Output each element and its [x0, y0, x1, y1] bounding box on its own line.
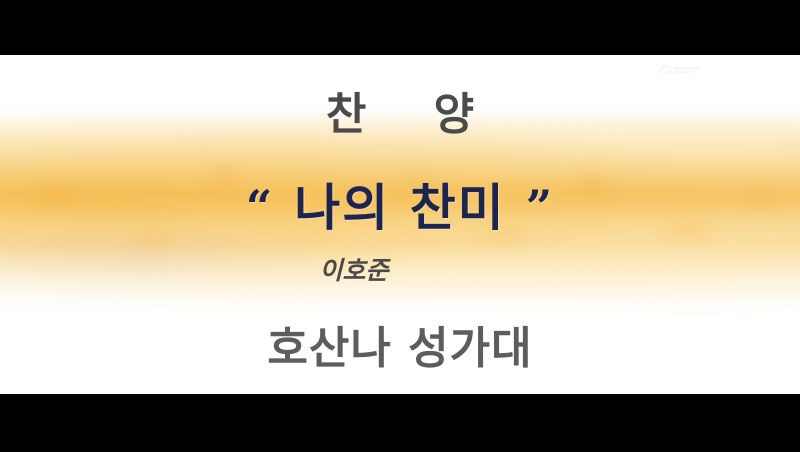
composer-name: 이호준: [0, 258, 800, 283]
title-slide: 찬 양 “나의 찬미” 이호준 호산나 성가대: [0, 55, 800, 394]
hymn-title: “나의 찬미”: [0, 183, 800, 233]
video-frame: 찬 양 “나의 찬미” 이호준 호산나 성가대: [0, 0, 800, 452]
hymn-title-text: 나의 찬미: [294, 179, 505, 237]
section-heading: 찬 양: [0, 93, 800, 137]
letterbox-bar-top: [0, 0, 800, 55]
letterbox-bar-bottom: [0, 394, 800, 452]
open-quote-mark: “: [246, 180, 274, 234]
choir-name: 호산나 성가대: [0, 327, 800, 371]
slide-text-layer: 찬 양 “나의 찬미” 이호준 호산나 성가대: [0, 55, 800, 394]
close-quote-mark: ”: [526, 180, 554, 234]
